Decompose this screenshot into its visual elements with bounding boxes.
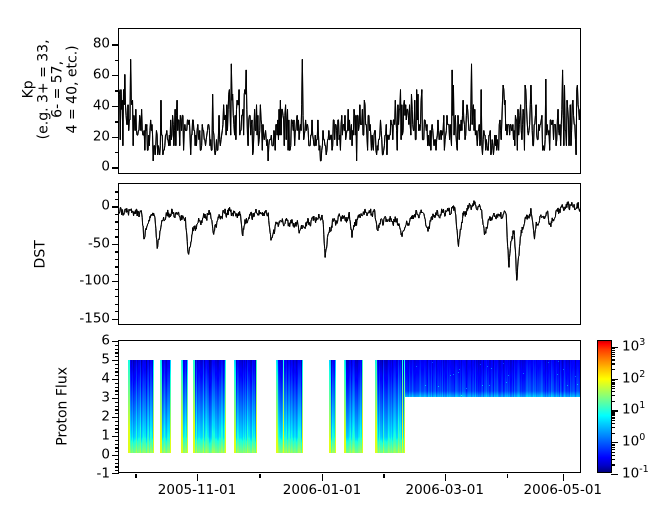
x-tick-label: 2006-03-01 xyxy=(405,484,483,498)
colorbar-tick-minor xyxy=(611,350,615,351)
x-tick-minor xyxy=(259,474,260,478)
y-tick-major xyxy=(112,319,119,320)
y-tick-minor xyxy=(115,470,119,471)
y-tick-label: 40 xyxy=(93,99,110,113)
y-tick-minor xyxy=(115,304,119,305)
y-tick-label: -50 xyxy=(88,237,110,251)
colorbar-label-base: 10 xyxy=(622,402,639,418)
y-tick-minor xyxy=(115,266,119,267)
dst-axis-title: DST xyxy=(34,224,49,284)
y-tick-minor xyxy=(115,251,119,252)
y-tick-minor xyxy=(115,466,119,467)
y-tick-minor xyxy=(115,199,119,200)
colorbar-label-base: 10 xyxy=(622,370,639,386)
y-tick-minor xyxy=(115,289,119,290)
y-tick-minor xyxy=(115,425,119,426)
axis-title-line: 4 = 40, etc.) xyxy=(66,16,81,162)
x-tick-major xyxy=(563,474,564,481)
dst-plot-area xyxy=(119,184,580,324)
y-tick-major xyxy=(112,167,119,168)
y-tick-minor xyxy=(115,413,119,414)
y-tick-label: -150 xyxy=(79,312,110,326)
y-tick-minor xyxy=(115,236,119,237)
colorbar-tick-minor xyxy=(611,452,615,453)
y-tick-major xyxy=(112,341,119,342)
y-tick-label: -100 xyxy=(79,274,110,288)
colorbar-label-base: 10 xyxy=(622,465,639,481)
colorbar-tick-minor xyxy=(611,395,615,396)
y-tick-minor xyxy=(115,349,119,350)
y-tick-minor xyxy=(115,463,119,464)
x-tick-label: 2005-11-01 xyxy=(158,484,236,498)
colorbar-tick-minor xyxy=(611,388,615,389)
y-tick-minor xyxy=(115,364,119,365)
x-tick-major xyxy=(445,474,446,481)
y-tick-label: 20 xyxy=(93,130,110,144)
y-tick-minor xyxy=(115,383,119,384)
y-tick-minor xyxy=(115,444,119,445)
y-tick-minor xyxy=(115,459,119,460)
panel-dst: 0-50-100-150 xyxy=(118,183,581,325)
colorbar-tick-minor xyxy=(611,455,615,456)
colorbar-tick-minor xyxy=(611,369,615,370)
x-tick-minor xyxy=(383,474,384,478)
panel-proton: 6543210-1 2005-11-012006-01-012006-03-01… xyxy=(118,340,581,473)
colorbar-tick-minor xyxy=(611,348,615,349)
x-tick-minor xyxy=(135,474,136,478)
colorbar-tick-major xyxy=(611,474,618,475)
y-tick-major xyxy=(112,206,119,207)
colorbar-tick-minor xyxy=(611,354,615,355)
colorbar-label-exponent: 2 xyxy=(639,368,645,379)
x-tick-major xyxy=(197,474,198,481)
x-tick-major xyxy=(322,474,323,481)
y-tick-major xyxy=(112,137,119,138)
colorbar-tick-minor xyxy=(611,391,615,392)
colorbar-tick-minor xyxy=(611,459,615,460)
y-tick-minor xyxy=(115,259,119,260)
proton-axis-title: Proton Flux xyxy=(56,351,71,461)
colorbar-tick-label: 102 xyxy=(622,372,645,386)
colorbar-label-exponent: 3 xyxy=(639,336,645,347)
y-tick-minor xyxy=(115,371,119,372)
y-tick-label: 0 xyxy=(101,161,110,175)
colorbar-tick-minor xyxy=(611,359,615,360)
y-tick-label: 5 xyxy=(101,353,110,367)
colorbar: 10310210110010-1 xyxy=(597,340,612,473)
colorbar-tick-minor xyxy=(611,447,615,448)
y-tick-minor xyxy=(115,311,119,312)
axis-title-line: Kp xyxy=(22,16,37,162)
axis-title-line: DST xyxy=(34,224,49,284)
axis-title-line: 6- = 57, xyxy=(51,16,66,162)
x-tick-label: 2006-05-01 xyxy=(524,484,602,498)
colorbar-tick-label: 103 xyxy=(622,340,645,354)
y-tick-minor xyxy=(115,409,119,410)
colorbar-tick-minor xyxy=(611,433,615,434)
y-tick-minor xyxy=(115,394,119,395)
y-tick-minor xyxy=(115,191,119,192)
y-tick-major xyxy=(112,473,119,474)
x-tick-label: 2006-01-01 xyxy=(283,484,361,498)
colorbar-tick-minor xyxy=(611,427,615,428)
colorbar-tick-label: 101 xyxy=(622,404,645,418)
colorbar-tick-minor xyxy=(611,401,615,402)
kp-plot-area xyxy=(119,29,580,173)
colorbar-tick-minor xyxy=(611,445,615,446)
y-tick-label: 6 xyxy=(101,334,110,348)
y-tick-minor xyxy=(115,428,119,429)
colorbar-gradient xyxy=(598,341,611,472)
colorbar-tick-minor xyxy=(611,417,615,418)
colorbar-tick-minor xyxy=(611,383,615,384)
colorbar-label-base: 10 xyxy=(622,338,639,354)
y-tick-major xyxy=(112,436,119,437)
y-tick-minor xyxy=(115,274,119,275)
y-tick-minor xyxy=(115,229,119,230)
y-tick-minor xyxy=(115,451,119,452)
y-tick-label: 0 xyxy=(101,200,110,214)
y-tick-minor xyxy=(115,152,119,153)
y-tick-major xyxy=(112,75,119,76)
colorbar-tick-minor xyxy=(611,382,615,383)
colorbar-tick-label: 10-1 xyxy=(622,467,649,481)
x-tick-minor xyxy=(507,474,508,478)
y-tick-major xyxy=(112,281,119,282)
y-tick-major xyxy=(112,244,119,245)
colorbar-label-base: 10 xyxy=(622,433,639,449)
colorbar-tick-minor xyxy=(611,412,615,413)
y-tick-major xyxy=(112,379,119,380)
y-tick-major xyxy=(112,44,119,45)
y-tick-minor xyxy=(115,352,119,353)
y-tick-label: -1 xyxy=(97,467,110,481)
colorbar-label-exponent: 0 xyxy=(639,432,645,443)
colorbar-tick-minor xyxy=(611,420,615,421)
y-tick-major xyxy=(112,106,119,107)
y-tick-minor xyxy=(115,221,119,222)
y-tick-minor xyxy=(115,214,119,215)
y-tick-minor xyxy=(115,121,119,122)
colorbar-tick-minor xyxy=(611,464,615,465)
y-tick-label: 80 xyxy=(93,38,110,52)
colorbar-tick-minor xyxy=(611,423,615,424)
y-tick-minor xyxy=(115,447,119,448)
y-tick-label: 2 xyxy=(101,410,110,424)
y-tick-label: 0 xyxy=(101,448,110,462)
proton-plot-area xyxy=(119,341,580,472)
colorbar-tick-minor xyxy=(611,380,615,381)
y-tick-label: 1 xyxy=(101,429,110,443)
colorbar-tick-minor xyxy=(611,363,615,364)
y-tick-label: 3 xyxy=(101,391,110,405)
y-tick-minor xyxy=(115,356,119,357)
colorbar-label-exponent: -1 xyxy=(639,464,648,475)
colorbar-tick-minor xyxy=(611,444,615,445)
y-tick-minor xyxy=(115,375,119,376)
colorbar-tick-minor xyxy=(611,413,615,414)
panel-kp: 806040200 xyxy=(118,28,581,174)
colorbar-tick-minor xyxy=(611,352,615,353)
y-tick-minor xyxy=(115,390,119,391)
colorbar-tick-minor xyxy=(611,415,615,416)
y-tick-minor xyxy=(115,402,119,403)
y-tick-minor xyxy=(115,60,119,61)
y-tick-minor xyxy=(115,406,119,407)
y-tick-major xyxy=(112,360,119,361)
y-tick-minor xyxy=(115,296,119,297)
y-tick-major xyxy=(112,398,119,399)
colorbar-tick-minor xyxy=(611,449,615,450)
y-tick-minor xyxy=(115,421,119,422)
colorbar-tick-minor xyxy=(611,356,615,357)
y-tick-major xyxy=(112,417,119,418)
kp-axis-title: Kp(e.g. 3+ = 33,6- = 57,4 = 40, etc.) xyxy=(22,16,81,162)
y-tick-minor xyxy=(115,387,119,388)
y-tick-minor xyxy=(115,345,119,346)
y-tick-label: 4 xyxy=(101,372,110,386)
colorbar-label-exponent: 1 xyxy=(639,400,645,411)
y-tick-label: 60 xyxy=(93,68,110,82)
colorbar-tick-minor xyxy=(611,386,615,387)
axis-title-line: Proton Flux xyxy=(56,351,71,461)
y-tick-minor xyxy=(115,368,119,369)
y-tick-major xyxy=(112,455,119,456)
y-tick-minor xyxy=(115,90,119,91)
axis-title-line: (e.g. 3+ = 33, xyxy=(36,16,51,162)
figure-root: 806040200 Kp(e.g. 3+ = 33,6- = 57,4 = 40… xyxy=(0,0,665,523)
y-tick-minor xyxy=(115,432,119,433)
colorbar-tick-label: 100 xyxy=(622,435,645,449)
y-tick-minor xyxy=(115,440,119,441)
